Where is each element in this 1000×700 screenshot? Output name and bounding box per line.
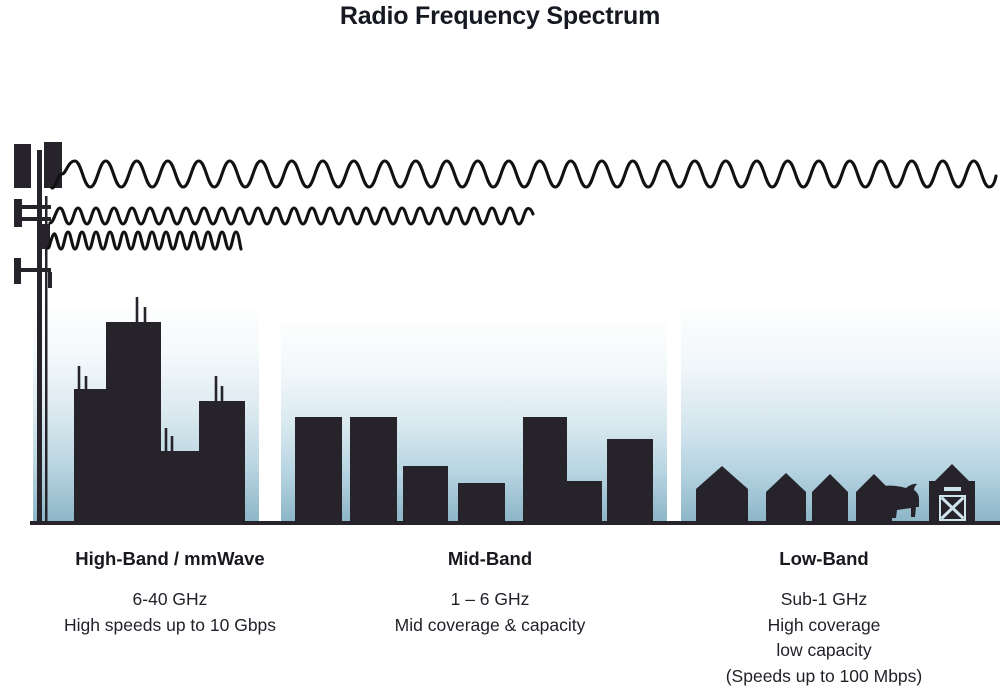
building-high-5 bbox=[199, 401, 245, 521]
tower-crossbar-3 bbox=[21, 268, 51, 272]
mid-band-wave bbox=[50, 208, 533, 224]
building-mid-2 bbox=[350, 417, 397, 521]
building-high-4 bbox=[161, 451, 199, 521]
band-description-mid-band: 1 – 6 GHz Mid coverage & capacity bbox=[320, 587, 660, 638]
building-mid-1 bbox=[295, 417, 342, 521]
band-description-high-band: 6-40 GHz High speeds up to 10 Gbps bbox=[0, 587, 340, 638]
band-attribute-low-band-1: High coverage bbox=[654, 613, 994, 639]
radio-waves bbox=[48, 161, 996, 249]
building-mid-3 bbox=[403, 466, 448, 521]
high-band-wave bbox=[48, 232, 241, 249]
tower-stub bbox=[48, 272, 52, 288]
band-attribute-high-band: High speeds up to 10 Gbps bbox=[0, 613, 340, 639]
band-label-mid-band: Mid-Band bbox=[320, 548, 660, 570]
building-mid-6 bbox=[567, 481, 602, 521]
band-attribute-low-band-2: low capacity bbox=[654, 638, 994, 664]
band-label-high-band: High-Band / mmWave bbox=[0, 548, 340, 570]
low-band-wave bbox=[52, 161, 996, 188]
band-label-low-band: Low-Band bbox=[654, 548, 994, 570]
building-mid-7 bbox=[607, 439, 653, 521]
building-mid-4 bbox=[458, 483, 505, 521]
building-high-3 bbox=[106, 322, 161, 521]
tower-crossbar-2 bbox=[22, 217, 51, 221]
band-caption-mid-band: Mid-Band 1 – 6 GHz Mid coverage & capaci… bbox=[320, 548, 660, 638]
band-description-low-band: Sub-1 GHz High coverage low capacity (Sp… bbox=[654, 587, 994, 689]
band-caption-high-band: High-Band / mmWave 6-40 GHz High speeds … bbox=[0, 548, 340, 638]
band-attribute-low-band-3: (Speeds up to 100 Mbps) bbox=[654, 664, 994, 690]
band-frequency-high-band: 6-40 GHz bbox=[0, 587, 340, 613]
antenna-element-3 bbox=[14, 258, 21, 284]
band-caption-low-band: Low-Band Sub-1 GHz High coverage low cap… bbox=[654, 548, 994, 689]
band-attribute-mid-band: Mid coverage & capacity bbox=[320, 613, 660, 639]
panel-antenna-left bbox=[14, 144, 31, 188]
band-frequency-mid-band: 1 – 6 GHz bbox=[320, 587, 660, 613]
panel-antenna-right bbox=[44, 142, 62, 188]
ground-line bbox=[30, 521, 1000, 525]
tower-crossbar-1 bbox=[22, 205, 51, 209]
band-frequency-low-band: Sub-1 GHz bbox=[654, 587, 994, 613]
antenna-element-1 bbox=[14, 199, 22, 227]
building-mid-5 bbox=[523, 417, 567, 521]
